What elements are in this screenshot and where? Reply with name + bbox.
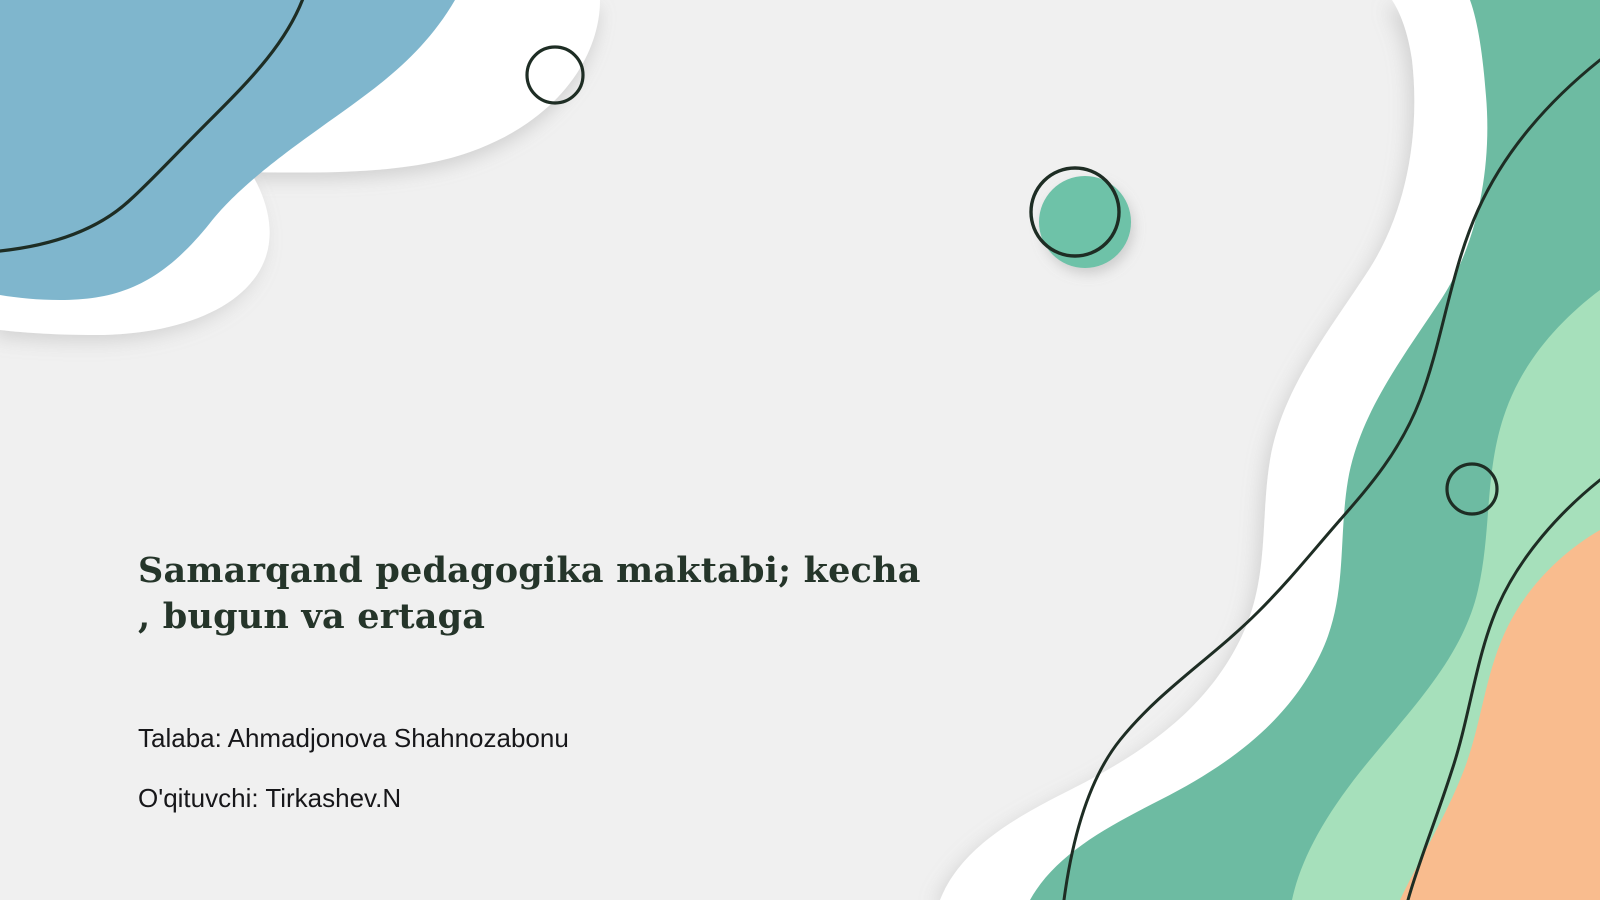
title-text-block: Samarqand pedagogika maktabi; kecha , bu…: [138, 548, 958, 640]
presentation-slide: Samarqand pedagogika maktabi; kecha , bu…: [0, 0, 1600, 900]
decorative-artwork: [0, 0, 1600, 900]
subtitle-teacher: O'qituvchi: Tirkashev.N: [138, 783, 401, 814]
subtitle-student: Talaba: Ahmadjonova Shahnozabonu: [138, 723, 569, 754]
page-title: Samarqand pedagogika maktabi; kecha , bu…: [138, 548, 938, 640]
